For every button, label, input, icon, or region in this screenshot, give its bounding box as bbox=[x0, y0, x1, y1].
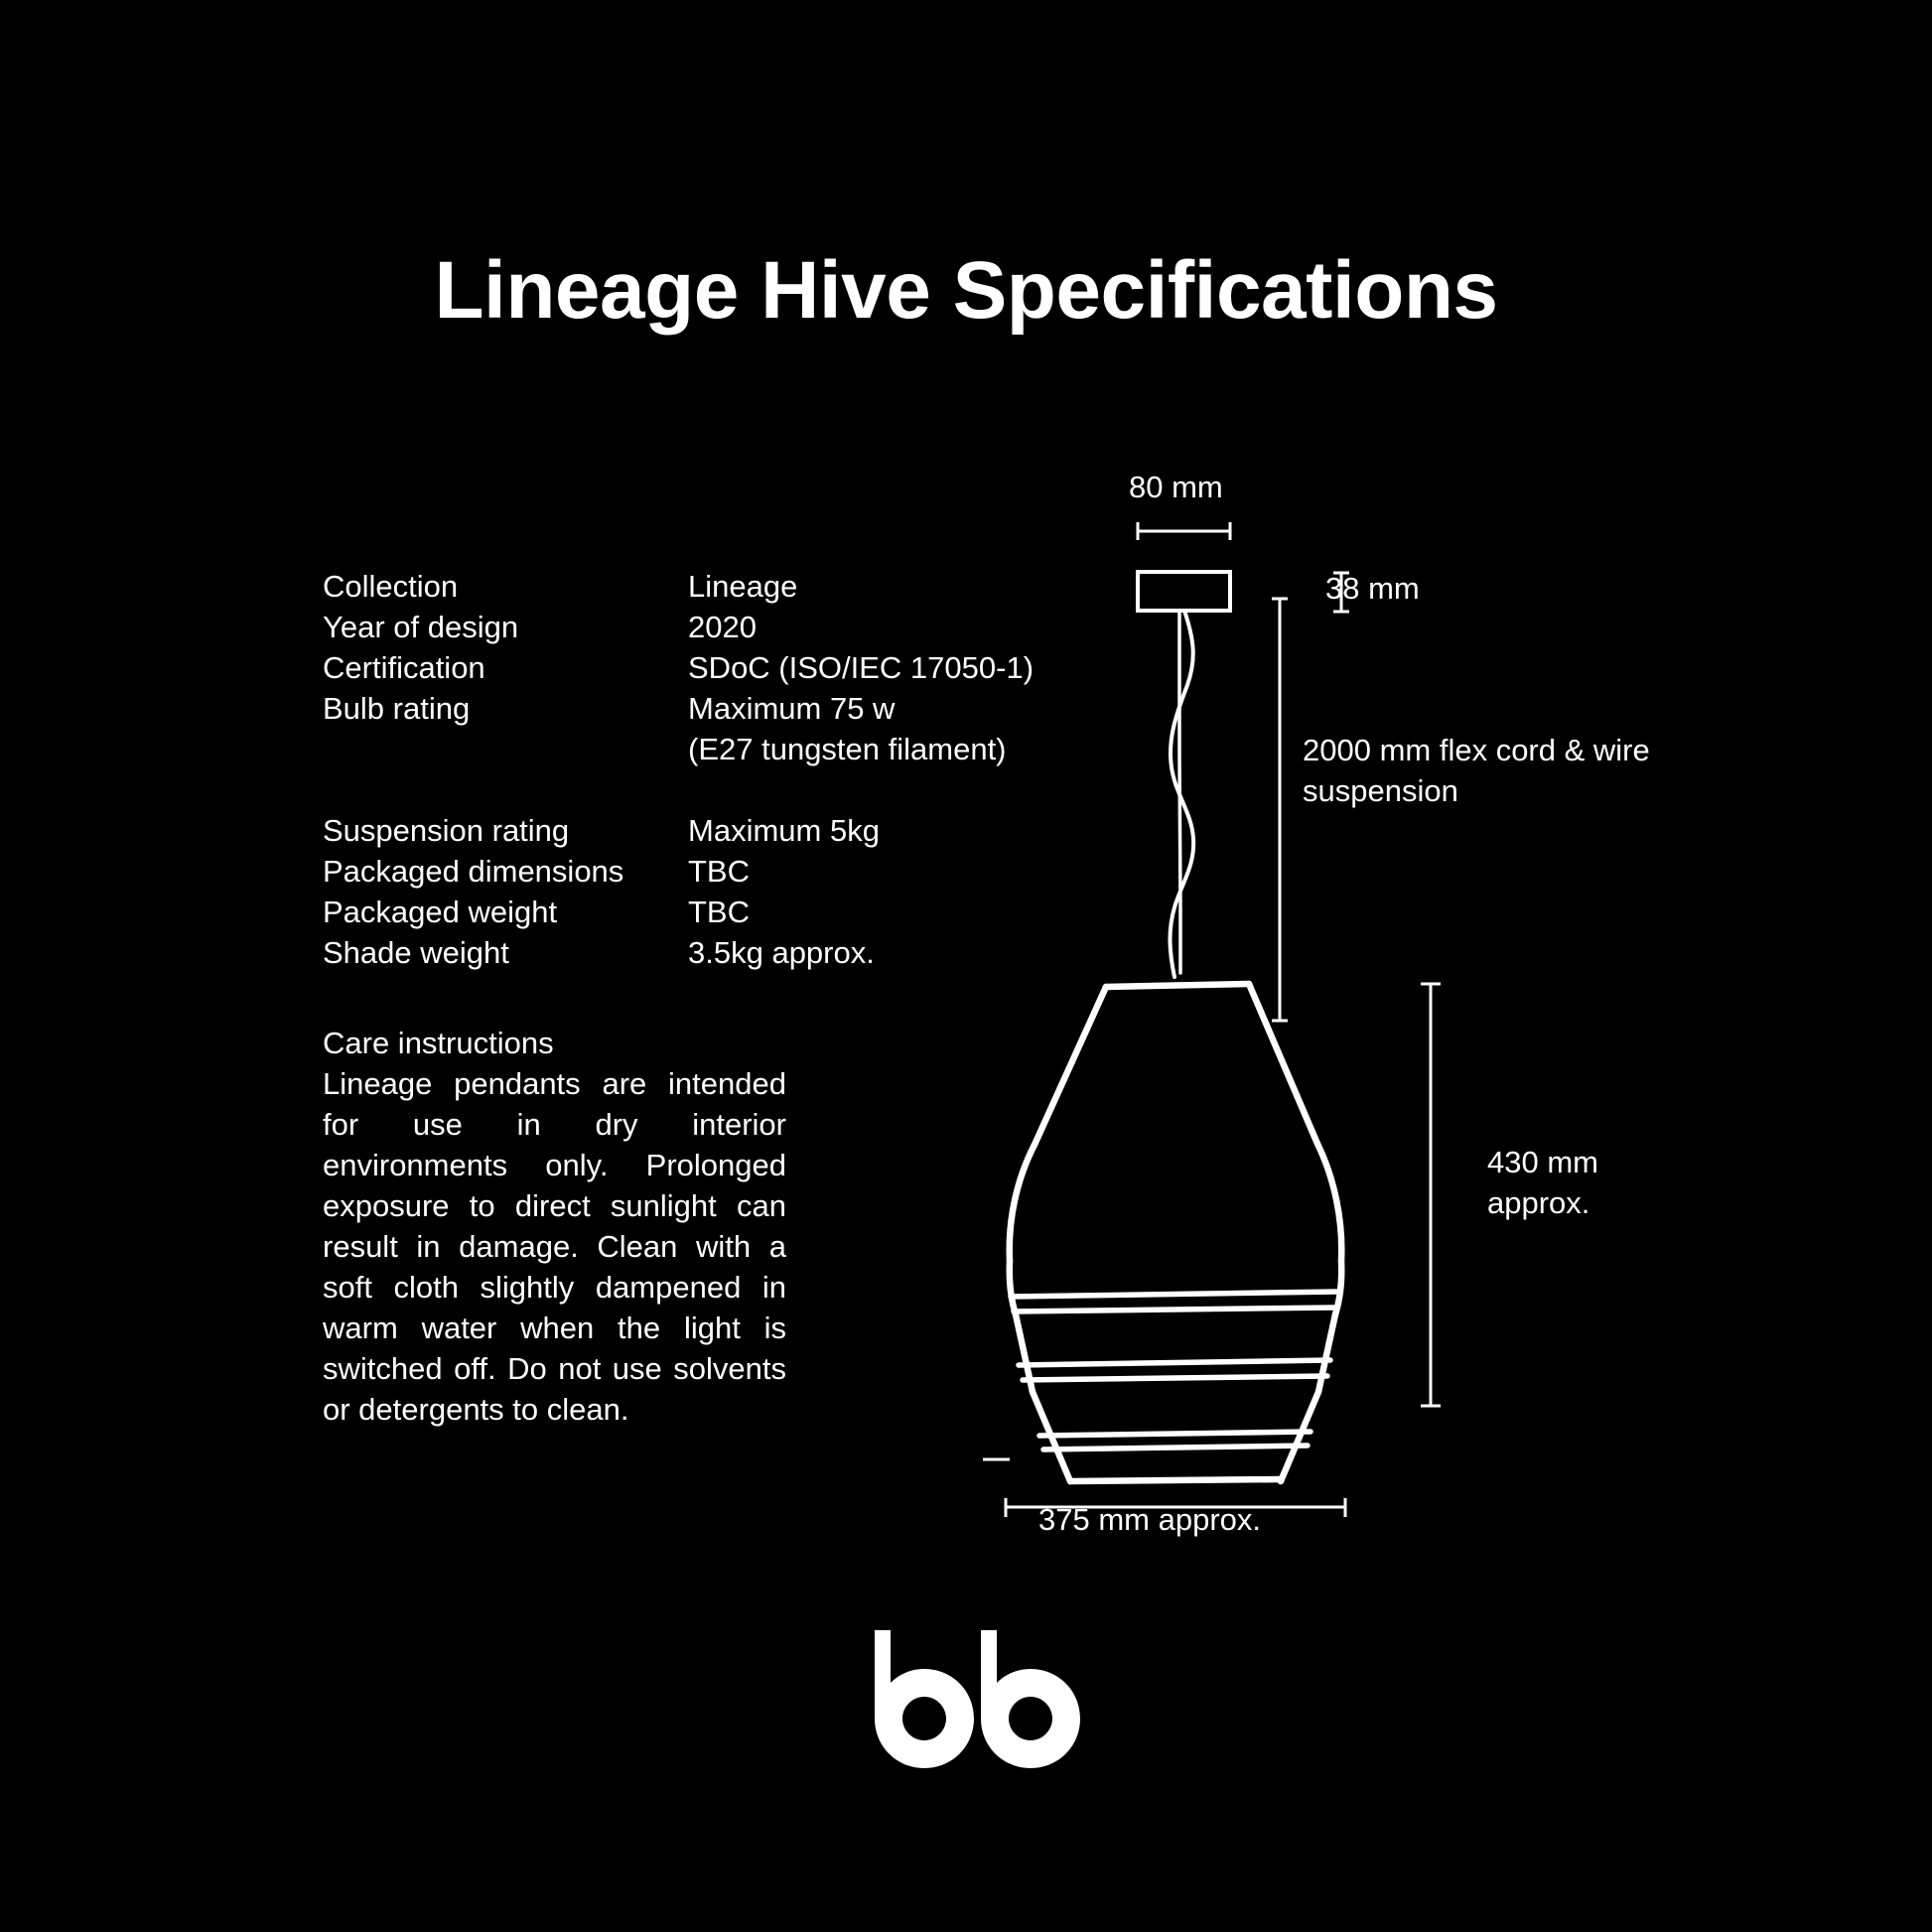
spec-value: 3.5kg approx. bbox=[688, 932, 875, 973]
table-row: Shade weight 3.5kg approx. bbox=[323, 932, 958, 973]
care-instructions-heading: Care instructions bbox=[323, 1023, 786, 1063]
care-instructions-block: Care instructions Lineage pendants are i… bbox=[323, 1023, 786, 1430]
table-row: Packaged weight TBC bbox=[323, 892, 958, 932]
suspension-length-dimension-line bbox=[1272, 599, 1288, 1021]
suspension-length-label: 2000 mm flex cord & wire suspension bbox=[1303, 730, 1700, 811]
care-instructions-body: Lineage pendants are intended for use in… bbox=[323, 1063, 786, 1430]
shade-height-label: 430 mm approx. bbox=[1487, 1142, 1706, 1223]
table-row: Bulb rating Maximum 75 w bbox=[323, 688, 958, 729]
shade-height-label-line2: approx. bbox=[1487, 1182, 1706, 1223]
specification-sheet: Lineage Hive Specifications Collection L… bbox=[0, 0, 1932, 1932]
bb-logo-icon bbox=[852, 1626, 1080, 1770]
table-row-spacer bbox=[323, 769, 958, 810]
spec-label: Suspension rating bbox=[323, 810, 688, 851]
table-row: Collection Lineage bbox=[323, 566, 958, 607]
spec-value: Maximum 5kg bbox=[688, 810, 880, 851]
table-row: Certification SDoC (ISO/IEC 17050-1) bbox=[323, 647, 958, 688]
spec-value: TBC bbox=[688, 851, 750, 892]
bb-logo-letter-2 bbox=[968, 1630, 1080, 1768]
spec-label: Packaged dimensions bbox=[323, 851, 688, 892]
bb-logo bbox=[852, 1626, 1080, 1770]
specification-table: Collection Lineage Year of design 2020 C… bbox=[323, 566, 958, 973]
ceiling-canopy-box bbox=[1138, 572, 1230, 611]
spec-value: SDoC (ISO/IEC 17050-1) bbox=[688, 647, 1034, 688]
shade-height-label-line1: 430 mm bbox=[1487, 1142, 1706, 1182]
canopy-height-label: 38 mm bbox=[1325, 568, 1420, 609]
shade-width-label: 375 mm approx. bbox=[1038, 1499, 1261, 1540]
table-row: (E27 tungsten filament) bbox=[323, 729, 958, 769]
spec-label: Bulb rating bbox=[323, 688, 688, 729]
canopy-width-dimension-line bbox=[1138, 522, 1230, 540]
canopy-width-label: 80 mm bbox=[1129, 467, 1223, 507]
spec-label: Collection bbox=[323, 566, 688, 607]
spec-value: Lineage bbox=[688, 566, 797, 607]
spec-value: TBC bbox=[688, 892, 750, 932]
spec-label: Packaged weight bbox=[323, 892, 688, 932]
spec-value: Maximum 75 w bbox=[688, 688, 895, 729]
table-row: Year of design 2020 bbox=[323, 607, 958, 647]
spec-value: 2020 bbox=[688, 607, 757, 647]
table-row: Packaged dimensions TBC bbox=[323, 851, 958, 892]
spec-label: Certification bbox=[323, 647, 688, 688]
spec-label: Year of design bbox=[323, 607, 688, 647]
shade-height-dimension-line bbox=[1421, 984, 1441, 1406]
page-title: Lineage Hive Specifications bbox=[0, 250, 1932, 332]
table-row: Suspension rating Maximum 5kg bbox=[323, 810, 958, 851]
spec-value: (E27 tungsten filament) bbox=[688, 729, 1007, 769]
lamp-shade-outline bbox=[1010, 984, 1342, 1481]
bb-logo-letter-1 bbox=[862, 1630, 974, 1768]
spec-label: Shade weight bbox=[323, 932, 688, 973]
shade-band-lines bbox=[1011, 1292, 1338, 1449]
